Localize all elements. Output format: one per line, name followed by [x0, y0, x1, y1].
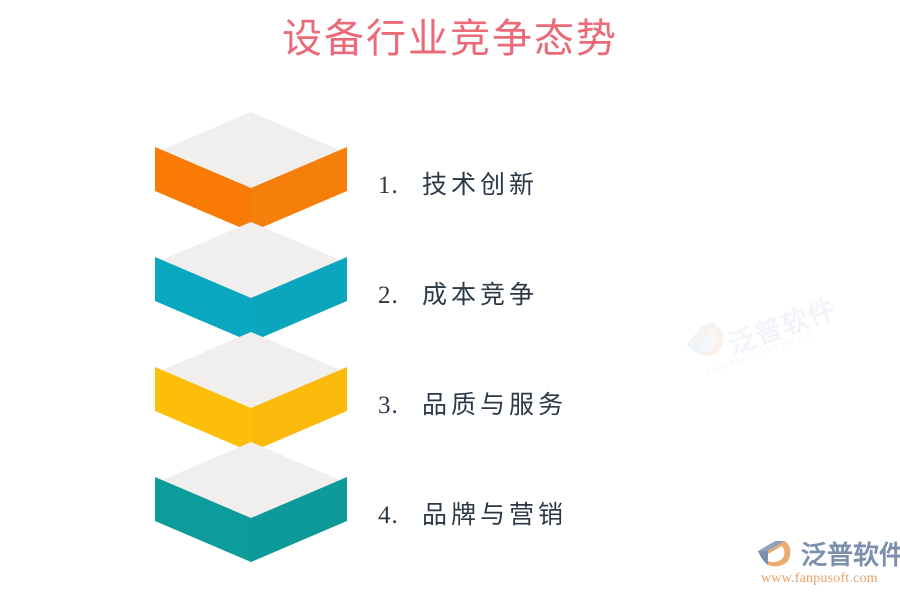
block-label-4: 4.品牌与营销 [378, 496, 708, 536]
block-label-2-number: 2. [378, 276, 422, 316]
block-label-1: 1.技术创新 [378, 166, 708, 206]
block-label-1-number: 1. [378, 166, 422, 206]
brand-logo: 泛普软件 www.fanpusoft.com [757, 538, 893, 594]
block-4-shape [155, 435, 347, 565]
brand-name: 泛普软件 [801, 540, 900, 570]
block-label-3-number: 3. [378, 386, 422, 426]
block-label-3-text: 品质与服务 [422, 392, 567, 419]
watermark-logo-icon [680, 315, 740, 368]
center-watermark: 泛普软件 FANPU SOFTWARE [688, 292, 828, 392]
fanpu-logo-icon [757, 540, 799, 570]
watermark-name: 泛普软件 [722, 287, 841, 362]
block-label-4-number: 4. [378, 496, 422, 536]
slide-canvas: 设备行业竞争态势 泛普软件 FANPU SOFTWARE [0, 0, 900, 600]
brand-url: www.fanpusoft.com [761, 570, 878, 588]
block-label-3: 3.品质与服务 [378, 386, 708, 426]
block-label-2: 2.成本竞争 [378, 276, 708, 316]
page-title: 设备行业竞争态势 [0, 13, 900, 65]
block-label-2-text: 成本竞争 [422, 282, 538, 309]
block-stack [155, 105, 355, 555]
block-4[interactable] [155, 435, 347, 565]
block-label-4-text: 品牌与营销 [422, 502, 567, 529]
block-label-1-text: 技术创新 [422, 172, 538, 199]
watermark-tagline: FANPU SOFTWARE [706, 328, 817, 376]
